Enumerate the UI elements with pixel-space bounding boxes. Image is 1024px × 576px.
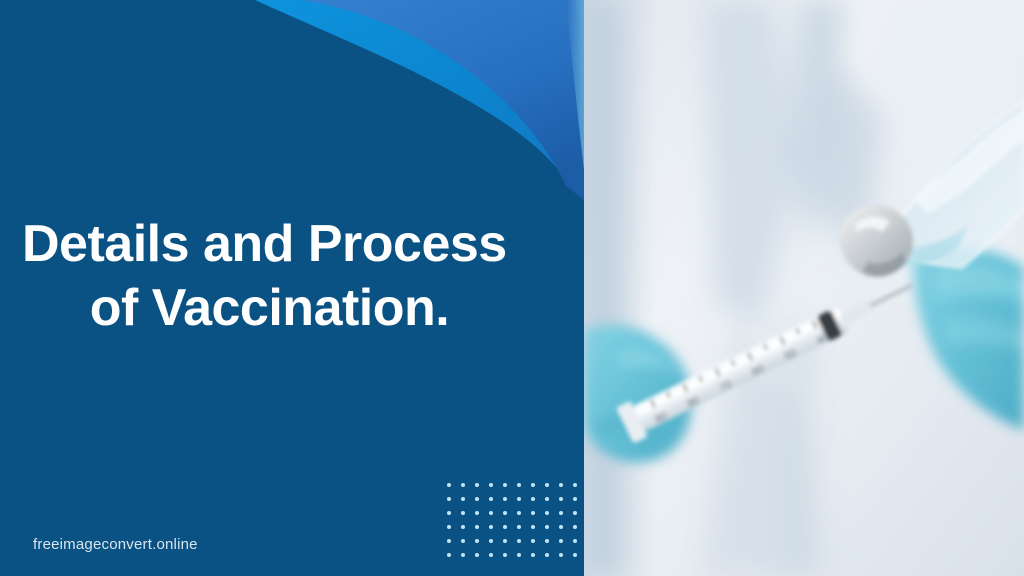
grid-dot — [573, 497, 577, 501]
grid-dot — [559, 539, 563, 543]
grid-dot — [545, 553, 549, 557]
grid-dot — [573, 539, 577, 543]
grid-dot — [503, 511, 507, 515]
grid-dot — [447, 525, 451, 529]
grid-dot — [461, 539, 465, 543]
grid-dot — [517, 511, 521, 515]
grid-dot — [531, 497, 535, 501]
grid-dot — [447, 511, 451, 515]
grid-dot — [461, 483, 465, 487]
grid-dot — [545, 539, 549, 543]
grid-dot — [475, 483, 479, 487]
grid-dot — [475, 511, 479, 515]
grid-dot — [517, 483, 521, 487]
grid-dot — [489, 525, 493, 529]
grid-dot — [517, 553, 521, 557]
grid-dot — [531, 511, 535, 515]
grid-dot — [545, 497, 549, 501]
grid-dot — [559, 497, 563, 501]
grid-dot — [531, 553, 535, 557]
presentation-slide: Details and Process of Vaccination. free… — [0, 0, 1024, 576]
grid-dot — [573, 525, 577, 529]
grid-dot — [461, 553, 465, 557]
grid-dot — [461, 497, 465, 501]
grid-dot — [503, 539, 507, 543]
grid-dot — [503, 525, 507, 529]
grid-dot — [489, 483, 493, 487]
grid-dot — [517, 497, 521, 501]
grid-dot — [461, 511, 465, 515]
grid-dot — [461, 525, 465, 529]
title-line-1: Details and Process — [22, 212, 517, 276]
vaccination-photo: 90 80 70 60 50 40 — [584, 0, 1024, 576]
wave-decoration — [0, 0, 584, 200]
grid-dot — [503, 553, 507, 557]
grid-dot — [531, 483, 535, 487]
grid-dot — [475, 539, 479, 543]
grid-dot — [489, 511, 493, 515]
grid-dot — [489, 539, 493, 543]
grid-dot — [559, 483, 563, 487]
grid-dot — [475, 553, 479, 557]
grid-dot — [503, 483, 507, 487]
title-line-2: of Vaccination. — [22, 276, 517, 340]
page-title: Details and Process of Vaccination. — [22, 212, 517, 340]
grid-dot — [545, 525, 549, 529]
grid-dot — [559, 553, 563, 557]
grid-dot — [447, 483, 451, 487]
grid-dot — [517, 539, 521, 543]
grid-dot — [573, 483, 577, 487]
grid-dot — [475, 525, 479, 529]
grid-dot — [531, 539, 535, 543]
grid-dot — [545, 511, 549, 515]
grid-dot — [447, 553, 451, 557]
grid-dot — [503, 497, 507, 501]
grid-dot — [447, 539, 451, 543]
grid-dot — [545, 483, 549, 487]
grid-dot — [447, 497, 451, 501]
grid-dot — [573, 511, 577, 515]
grid-dot — [559, 525, 563, 529]
left-content-panel: Details and Process of Vaccination. free… — [0, 0, 584, 576]
watermark-text: freeimageconvert.online — [33, 536, 198, 553]
grid-dot — [517, 525, 521, 529]
grid-dot — [489, 497, 493, 501]
grid-dot — [531, 525, 535, 529]
grid-dot — [573, 553, 577, 557]
grid-dot — [475, 497, 479, 501]
photo-illustration: 90 80 70 60 50 40 — [584, 0, 1024, 576]
grid-dot — [559, 511, 563, 515]
dot-grid-decoration — [447, 483, 584, 569]
grid-dot — [489, 553, 493, 557]
